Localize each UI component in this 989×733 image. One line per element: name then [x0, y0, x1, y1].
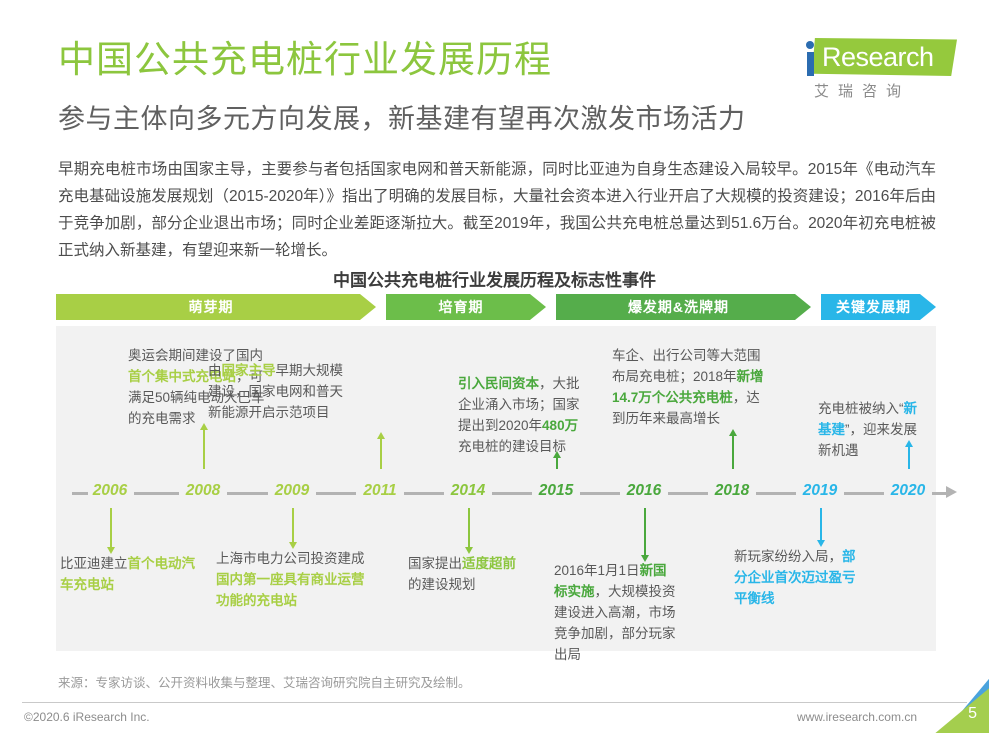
lead-paragraph: 早期充电桩市场由国家主导，主要参与者包括国家电网和普天新能源，同时比亚迪为自身生… [58, 156, 936, 264]
logo-wordmark: Research [822, 42, 934, 72]
connector-arrow-2011 [380, 438, 382, 469]
axis-dash [404, 492, 444, 495]
event-note-2006: 比亚迪建立首个电动汽车充电站 [60, 553, 196, 595]
chart-title: 中国公共充电桩行业发展历程及标志性事件 [0, 266, 989, 291]
axis-year-2011: 2011 [363, 482, 396, 500]
event-note-2019: 新玩家纷纷入局，部分企业首次迈过盈亏平衡线 [734, 546, 858, 609]
connector-arrowhead-icon [377, 432, 385, 439]
event-note-2016: 2016年1月1日新国标实施，大规模投资建设进入高潮，市场竞争加剧，部分玩家出局 [554, 560, 676, 665]
connector-stem [292, 508, 294, 543]
page-number: 5 [968, 705, 977, 723]
phase-banner-label: 培育期 [439, 297, 494, 317]
connector-arrow-2008 [203, 429, 205, 469]
connector-arrowhead-icon [905, 440, 913, 447]
event-note-2015: 引入民间资本，大批企业涌入市场；国家提出到2020年480万充电桩的建设目标 [458, 373, 580, 457]
connector-arrow-2014 [468, 508, 470, 548]
connector-arrow-2009 [292, 508, 294, 543]
phase-banner-1: 萌芽期 [56, 294, 376, 320]
source-note: 来源：专家访谈、公开资料收集与整理、艾瑞咨询研究院自主研究及绘制。 [58, 672, 471, 691]
axis-year-2009: 2009 [275, 482, 309, 500]
connector-stem [908, 446, 910, 469]
phase-banner-label: 萌芽期 [189, 297, 244, 317]
phase-banner-label: 爆发期&洗牌期 [628, 297, 739, 317]
connector-arrowhead-icon [107, 547, 115, 554]
axis-year-2018: 2018 [715, 482, 749, 500]
axis-year-2006: 2006 [93, 482, 127, 500]
page-title: 中国公共充电桩行业发展历程 [58, 40, 552, 81]
connector-stem [820, 508, 822, 541]
slide-page: 中国公共充电桩行业发展历程 参与主体向多元方向发展，新基建有望再次激发市场活力 … [0, 0, 989, 733]
timeline-axis: 2006200820092011201420152016201820192020 [70, 482, 920, 504]
footer-divider [22, 702, 967, 703]
axis-dash [844, 492, 884, 495]
axis-dash [316, 492, 356, 495]
axis-arrow-icon [946, 486, 957, 498]
connector-arrowhead-icon [465, 547, 473, 554]
connector-stem [732, 435, 734, 469]
axis-dash [580, 492, 620, 495]
connector-arrow-2016 [644, 508, 646, 556]
axis-year-2016: 2016 [627, 482, 661, 500]
connector-arrow-2015 [556, 457, 558, 469]
event-note-2020: 充电桩被纳入“新基建”，迎来发展新机遇 [818, 398, 930, 461]
axis-dash-tail [932, 492, 946, 495]
connector-stem [380, 438, 382, 469]
axis-year-2019: 2019 [803, 482, 837, 500]
logo-i-stem-icon [807, 52, 814, 76]
page-subtitle: 参与主体向多元方向发展，新基建有望再次激发市场活力 [58, 104, 746, 135]
axis-year-2014: 2014 [451, 482, 485, 500]
event-note-2009: 上海市电力公司投资建成国内第一座具有商业运营功能的充电站 [216, 548, 372, 611]
connector-arrow-2006 [110, 508, 112, 548]
axis-dash [134, 492, 179, 495]
event-note-2018: 车企、出行公司等大范围布局充电桩；2018年新增14.7万个公共充电桩，达到历年… [612, 345, 764, 429]
phase-banner-3: 爆发期&洗牌期 [556, 294, 811, 320]
iresearch-logo: Research 艾瑞咨询 [796, 36, 964, 102]
connector-arrow-2019 [820, 508, 822, 541]
axis-dash [668, 492, 708, 495]
connector-arrow-2018 [732, 435, 734, 469]
axis-year-2015: 2015 [539, 482, 573, 500]
phase-banner-2: 培育期 [386, 294, 546, 320]
connector-arrowhead-icon [553, 451, 561, 458]
logo-chinese-name: 艾瑞咨询 [814, 80, 910, 101]
connector-arrowhead-icon [200, 423, 208, 430]
footer-copyright: ©2020.6 iResearch Inc. [24, 710, 150, 724]
connector-arrowhead-icon [289, 542, 297, 549]
connector-stem [110, 508, 112, 548]
phase-banner-label: 关键发展期 [836, 297, 921, 317]
axis-dash [227, 492, 268, 495]
connector-arrow-2020 [908, 446, 910, 469]
phase-banner-row: 萌芽期培育期爆发期&洗牌期关键发展期 [56, 294, 936, 320]
connector-stem [203, 429, 205, 469]
phase-banner-4: 关键发展期 [821, 294, 936, 320]
axis-year-2008: 2008 [186, 482, 220, 500]
axis-dash [756, 492, 796, 495]
axis-dash [492, 492, 532, 495]
connector-stem [468, 508, 470, 548]
axis-dash-lead [72, 492, 88, 495]
connector-arrowhead-icon [641, 555, 649, 562]
event-note-2011: 由国家主导早期大规模建设，国家电网和普天新能源开启示范项目 [208, 360, 348, 423]
connector-arrowhead-icon [729, 429, 737, 436]
logo-i-dot-icon [806, 41, 814, 49]
connector-arrowhead-icon [817, 540, 825, 547]
page-corner-decoration: 5 [933, 671, 989, 733]
axis-year-2020: 2020 [891, 482, 925, 500]
connector-stem [556, 457, 558, 469]
event-note-2014: 国家提出适度超前的建设规划 [408, 553, 520, 595]
footer-website: www.iresearch.com.cn [797, 710, 917, 724]
connector-stem [644, 508, 646, 556]
